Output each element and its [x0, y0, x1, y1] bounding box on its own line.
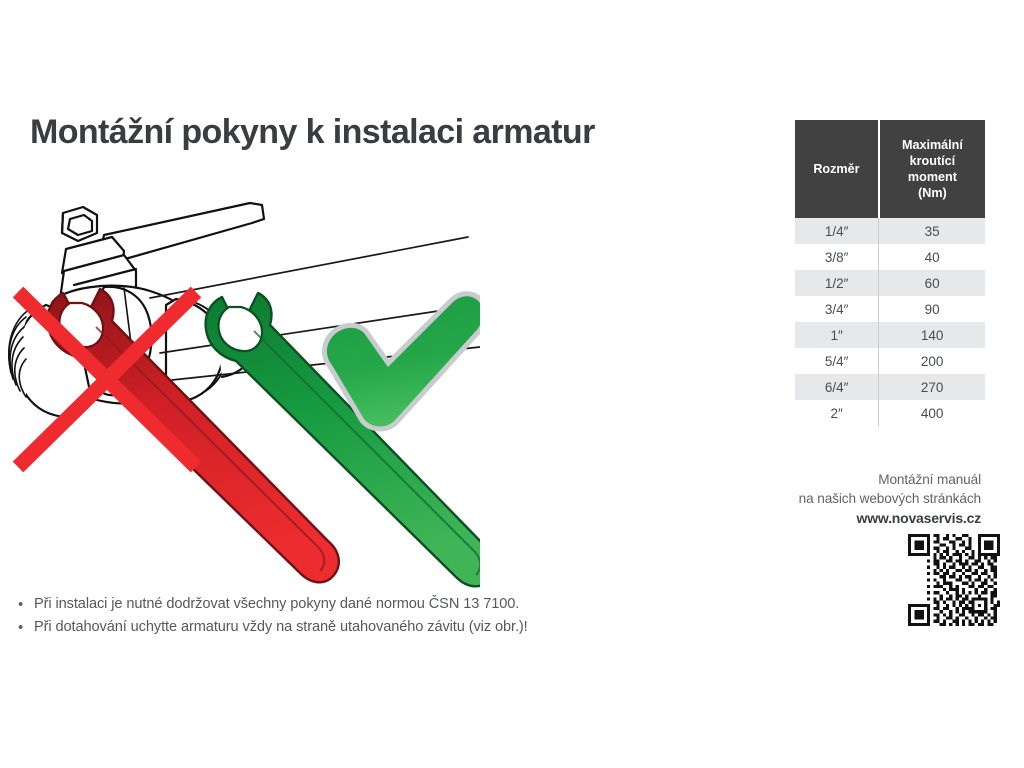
cell-size: 3/8″ [795, 244, 879, 270]
qr-code-icon[interactable] [908, 534, 1000, 626]
page-title: Montážní pokyny k instalaci armatur [30, 113, 595, 152]
bullet-icon: • [18, 617, 34, 638]
column-header-torque: Maximální kroutící moment (Nm) [879, 120, 985, 218]
installation-illustration [0, 175, 480, 595]
torque-table: Rozměr Maximální kroutící moment (Nm) 1/… [795, 120, 985, 426]
header-line: (Nm) [884, 185, 981, 201]
cell-size: 5/4″ [795, 348, 879, 374]
table-row: 1″ 140 [795, 322, 985, 348]
cell-torque: 35 [879, 218, 985, 244]
table-row: 3/8″ 40 [795, 244, 985, 270]
cell-torque: 400 [879, 400, 985, 426]
cell-size: 6/4″ [795, 374, 879, 400]
cell-torque: 90 [879, 296, 985, 322]
table-row: 1/4″ 35 [795, 218, 985, 244]
note-text: Při instalaci je nutné dodržovat všechny… [34, 594, 519, 615]
header-line: Maximální [884, 137, 981, 153]
column-header-size: Rozměr [795, 120, 879, 218]
header-line: kroutící [884, 153, 981, 169]
page-root: Montážní pokyny k instalaci armatur [0, 0, 1024, 768]
manual-promo: Montážní manuál na našich webových strán… [740, 470, 1005, 529]
cell-torque: 200 [879, 348, 985, 374]
list-item: • Při dotahování uchytte armaturu vždy n… [18, 617, 658, 638]
cell-torque: 40 [879, 244, 985, 270]
cell-torque: 270 [879, 374, 985, 400]
promo-line-2: na našich webových stránkách [740, 489, 981, 508]
table-row: 5/4″ 200 [795, 348, 985, 374]
cell-torque: 140 [879, 322, 985, 348]
note-text: Při dotahování uchytte armaturu vždy na … [34, 617, 528, 638]
bullet-icon: • [18, 594, 34, 615]
table-row: 3/4″ 90 [795, 296, 985, 322]
promo-line-1: Montážní manuál [740, 470, 981, 489]
cell-size: 1/2″ [795, 270, 879, 296]
table-row: 6/4″ 270 [795, 374, 985, 400]
installation-notes: • Při instalaci je nutné dodržovat všech… [18, 594, 658, 640]
cell-size: 1/4″ [795, 218, 879, 244]
table-row: 1/2″ 60 [795, 270, 985, 296]
cell-size: 2″ [795, 400, 879, 426]
cell-torque: 60 [879, 270, 985, 296]
table-row: 2″ 400 [795, 400, 985, 426]
website-url[interactable]: www.novaservis.cz [740, 508, 981, 529]
header-line: moment [884, 169, 981, 185]
list-item: • Při instalaci je nutné dodržovat všech… [18, 594, 658, 615]
cell-size: 3/4″ [795, 296, 879, 322]
table-header-row: Rozměr Maximální kroutící moment (Nm) [795, 120, 985, 218]
cell-size: 1″ [795, 322, 879, 348]
